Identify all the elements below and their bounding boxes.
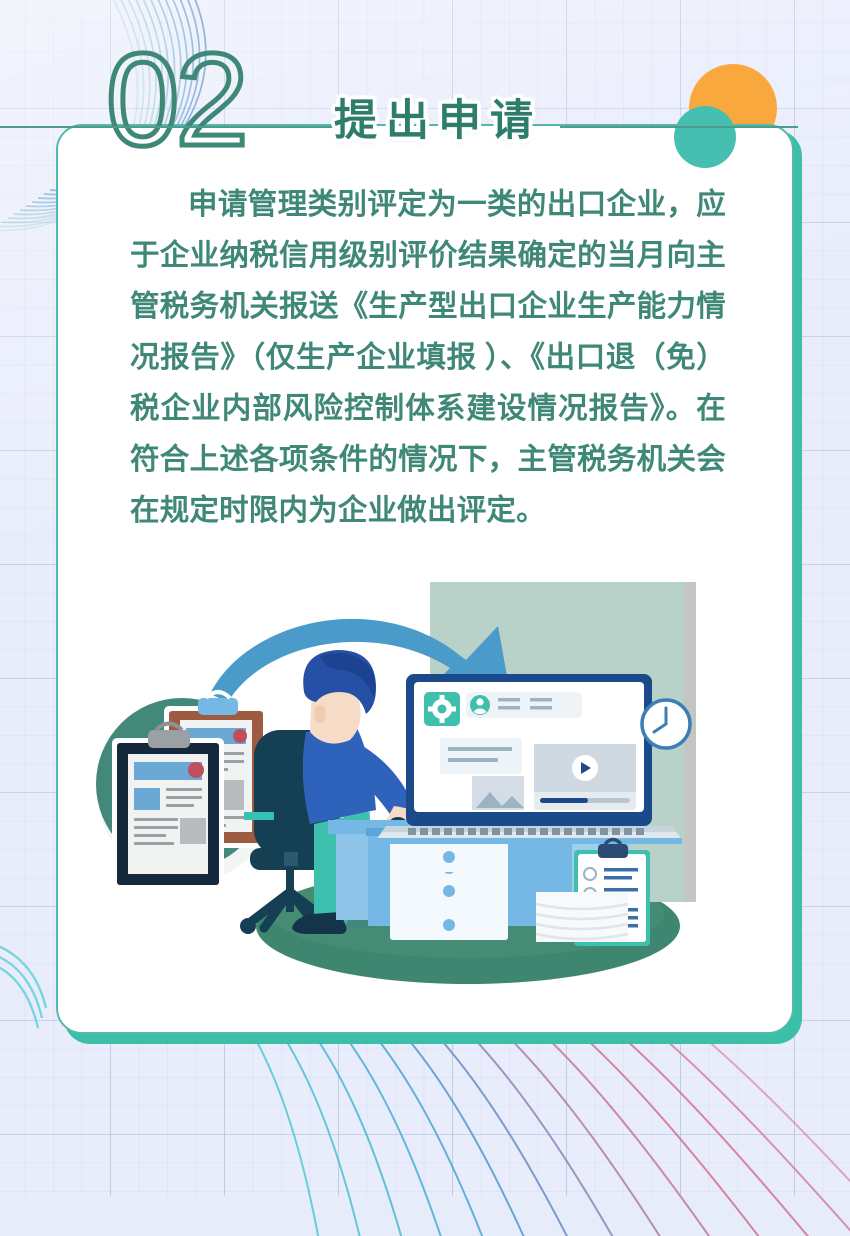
page-body-text: 申请管理类别评定为一类的出口企业，应于企业纳税信用级别评价结果确定的当月向主管税…	[130, 180, 726, 537]
text-card	[440, 738, 522, 774]
page-title: 提出申请	[0, 86, 850, 148]
image-placeholder-icon	[472, 776, 524, 810]
clipboard-front	[112, 724, 224, 891]
office-worker-illustration	[68, 556, 788, 986]
paper-stack-icon	[536, 892, 628, 942]
wall-clock-icon	[642, 700, 690, 748]
laptop	[376, 674, 682, 844]
title-band: 提出申请	[0, 86, 850, 150]
video-player	[534, 744, 636, 810]
gear-icon	[424, 692, 460, 726]
avatar-row	[466, 692, 582, 718]
content-card: 申请管理类别评定为一类的出口企业，应于企业纳税信用级别评价结果确定的当月向主管税…	[56, 124, 794, 1034]
